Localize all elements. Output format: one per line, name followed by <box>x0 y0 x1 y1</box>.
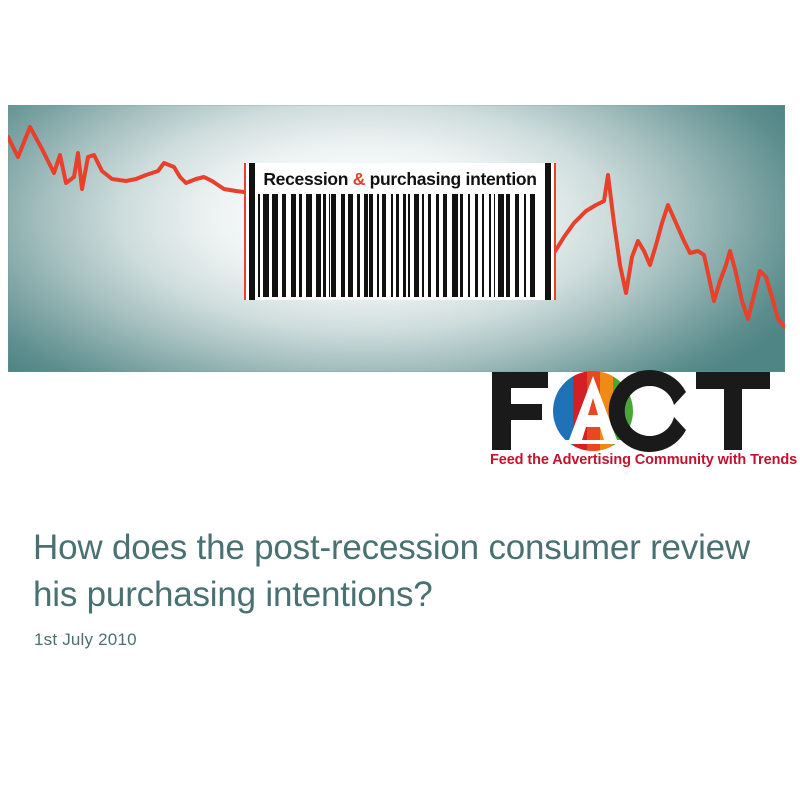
barcode-bar <box>436 194 439 297</box>
logo-letter-f <box>492 372 548 450</box>
barcode-bar <box>408 194 410 297</box>
barcode-bar <box>364 194 368 297</box>
slide-canvas: Recession & purchasing intention <box>0 0 800 800</box>
barcode-bar <box>428 194 431 297</box>
logo-letter-t <box>696 372 770 450</box>
barcode-bar <box>377 194 379 297</box>
fact-logo-tagline: Feed the Advertising Community with Tren… <box>490 452 788 468</box>
barcode-guard-bar-right <box>545 163 551 300</box>
barcode-bar <box>489 194 491 297</box>
barcode-bar <box>506 194 510 297</box>
barcode-bar <box>443 194 447 297</box>
barcode-bar <box>468 194 470 297</box>
barcode-label-ampersand: & <box>353 169 365 189</box>
barcode-bar <box>369 194 373 297</box>
barcode-label-suffix: purchasing intention <box>365 169 537 189</box>
logo-a-baseline-gap <box>566 440 620 444</box>
barcode-bar <box>323 194 326 297</box>
barcode-graphic: Recession & purchasing intention <box>244 163 556 300</box>
barcode-guard-bar-left <box>249 163 255 300</box>
barcode-bar <box>263 194 269 297</box>
barcode-bar <box>348 194 353 297</box>
barcode-bar <box>291 194 296 297</box>
barcode-bar <box>460 194 463 297</box>
trend-line-right <box>554 175 785 327</box>
page-title: How does the post-recession consumer rev… <box>33 524 753 618</box>
barcode-bar <box>482 194 484 297</box>
barcode-bar <box>282 194 286 297</box>
barcode-bar <box>382 194 386 297</box>
barcode-bar <box>498 194 504 297</box>
barcode-edge-rule-right <box>554 163 556 300</box>
barcode-bar <box>452 194 458 297</box>
barcode-bar <box>331 194 336 297</box>
barcode-bar <box>357 194 360 297</box>
barcode-bars <box>258 194 542 297</box>
slide-date: 1st July 2010 <box>34 630 137 650</box>
barcode-bar <box>341 194 345 297</box>
barcode-bar <box>422 194 424 297</box>
fact-logo: Feed the Advertising Community with Tren… <box>488 370 788 478</box>
barcode-edge-rule-left <box>244 163 246 300</box>
barcode-bar <box>403 194 406 297</box>
barcode-bar <box>272 194 278 297</box>
barcode-bar <box>299 194 302 297</box>
barcode-bar <box>316 194 321 297</box>
barcode-bar <box>475 194 478 297</box>
barcode-bar <box>258 194 260 297</box>
barcode-bar <box>530 194 535 297</box>
barcode-bar <box>306 194 312 297</box>
barcode-bar <box>329 194 330 297</box>
barcode-bar <box>524 194 526 297</box>
trend-line-left <box>8 127 266 193</box>
barcode-label: Recession & purchasing intention <box>260 166 540 193</box>
barcode-bar <box>515 194 519 297</box>
fact-logo-mark <box>488 370 788 452</box>
barcode-label-prefix: Recession <box>263 169 352 189</box>
barcode-bar <box>396 194 399 297</box>
barcode-bar <box>414 194 419 297</box>
barcode-bar <box>391 194 393 297</box>
barcode-bar <box>494 194 495 297</box>
